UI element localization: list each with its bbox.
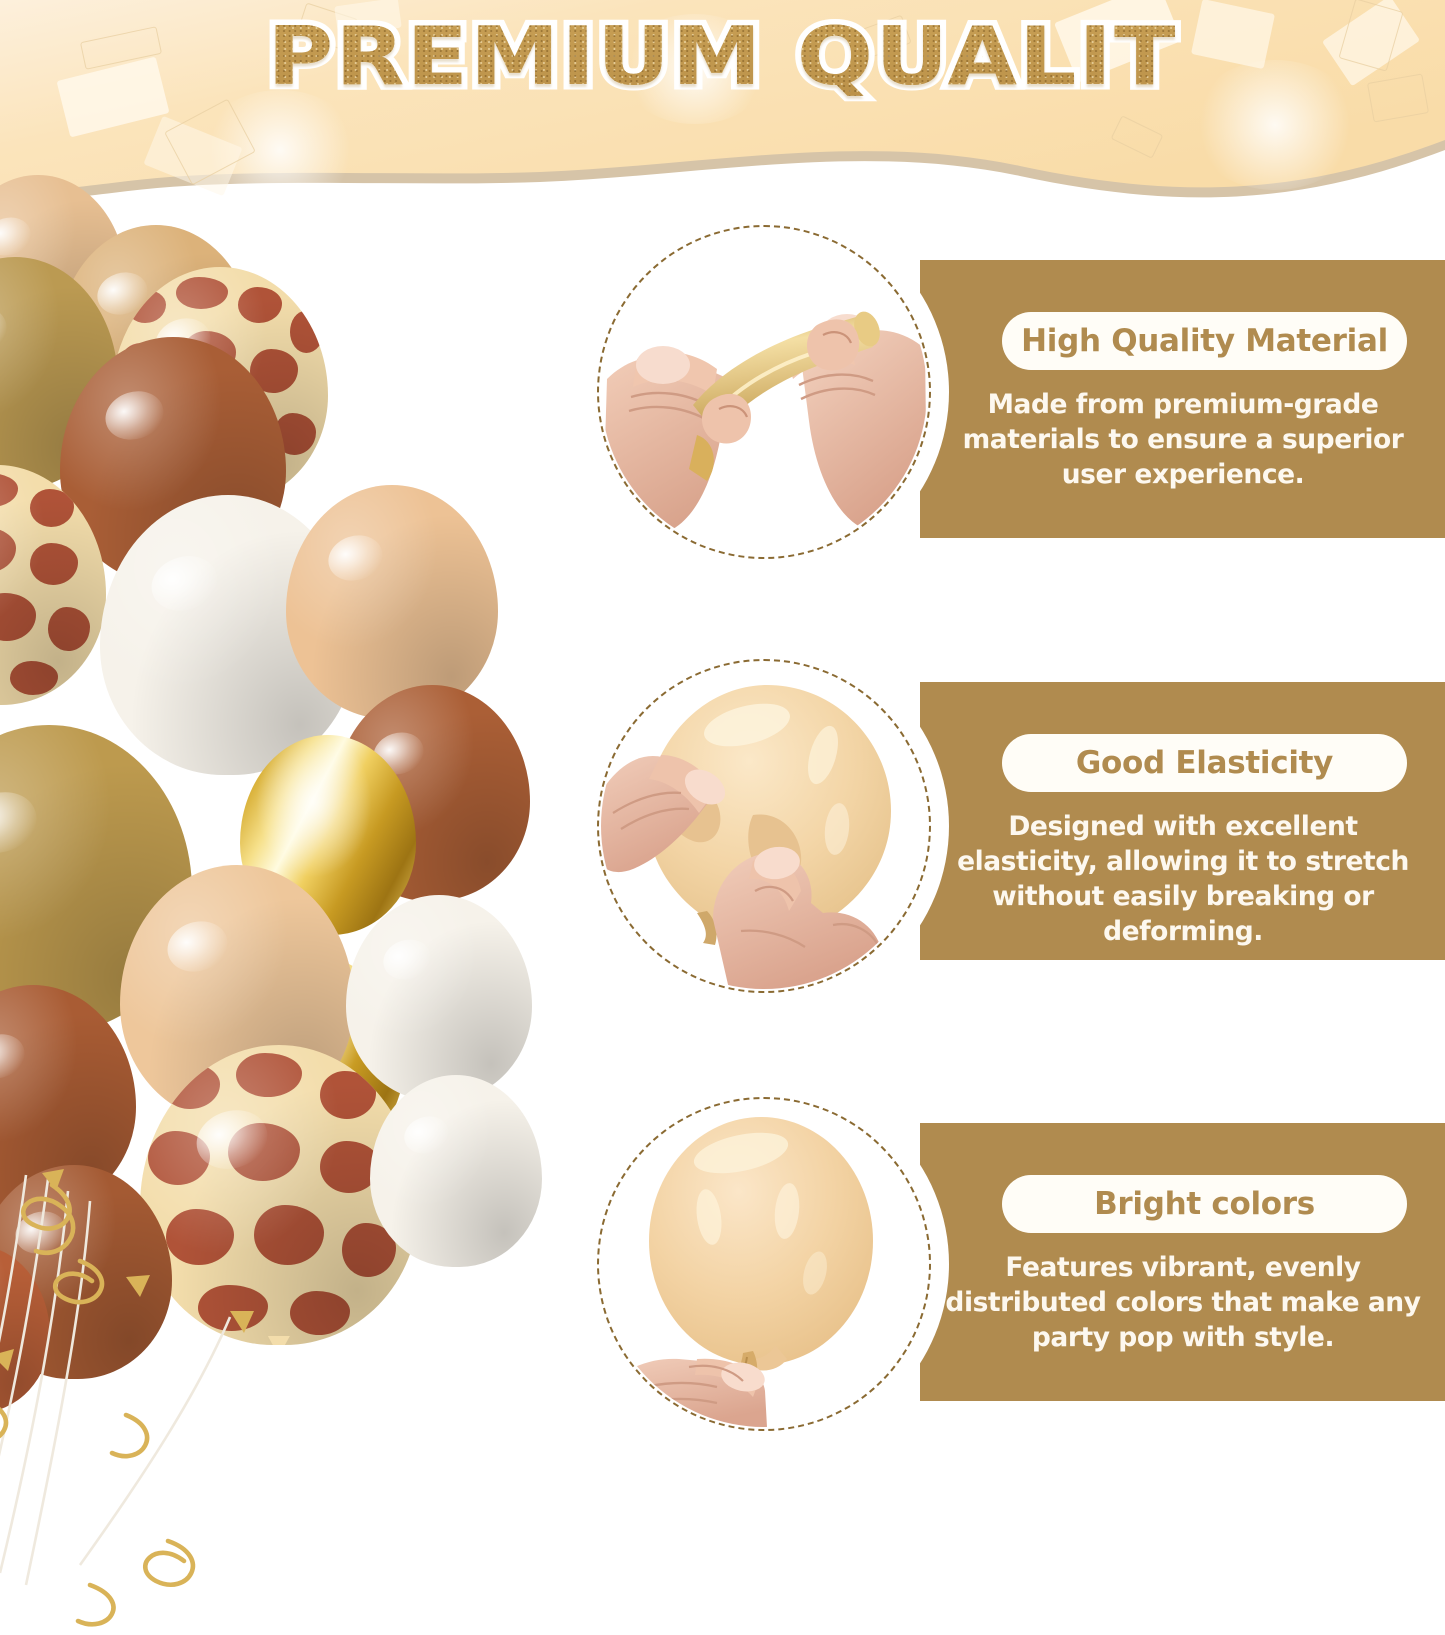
feature-description: Features vibrant, evenly distributed col…: [944, 1251, 1422, 1356]
feature-title-pill: High Quality Material: [1002, 312, 1407, 370]
feature-panel-good-elasticity: Good Elasticity Designed with excellent …: [920, 682, 1445, 960]
dashed-circle-border: [597, 659, 931, 993]
confetti-piece: [1111, 115, 1164, 159]
feature-photo-stretch-balloon: [588, 216, 940, 568]
feature-title: High Quality Material: [1021, 323, 1388, 359]
feature-title: Bright colors: [1094, 1186, 1315, 1222]
dashed-circle-border: [597, 1097, 931, 1431]
dashed-circle-border: [597, 225, 931, 559]
balloon-giraffe-print: [0, 465, 106, 705]
feature-photo-hold-balloon: [588, 1088, 940, 1440]
feature-panel-high-quality-material: High Quality Material Made from premium-…: [920, 260, 1445, 538]
feature-description: Made from premium-grade materials to ens…: [944, 388, 1422, 493]
feature-title-pill: Good Elasticity: [1002, 734, 1407, 792]
feature-description: Designed with excellent elasticity, allo…: [944, 810, 1422, 950]
balloon-peach: [286, 485, 498, 719]
feature-panel-bright-colors: Bright colors Features vibrant, evenly d…: [920, 1123, 1445, 1401]
balloon-cluster-image: [0, 185, 560, 1435]
feature-photo-squeeze-balloon: [588, 650, 940, 1002]
feature-title-pill: Bright colors: [1002, 1175, 1407, 1233]
balloon-ribbons: [0, 1165, 490, 1635]
feature-title: Good Elasticity: [1076, 745, 1333, 781]
page-title: PREMIUM QUALIT: [0, 10, 1445, 103]
header-banner: PREMIUM QUALIT PREMIUM QUALIT: [0, 0, 1445, 215]
